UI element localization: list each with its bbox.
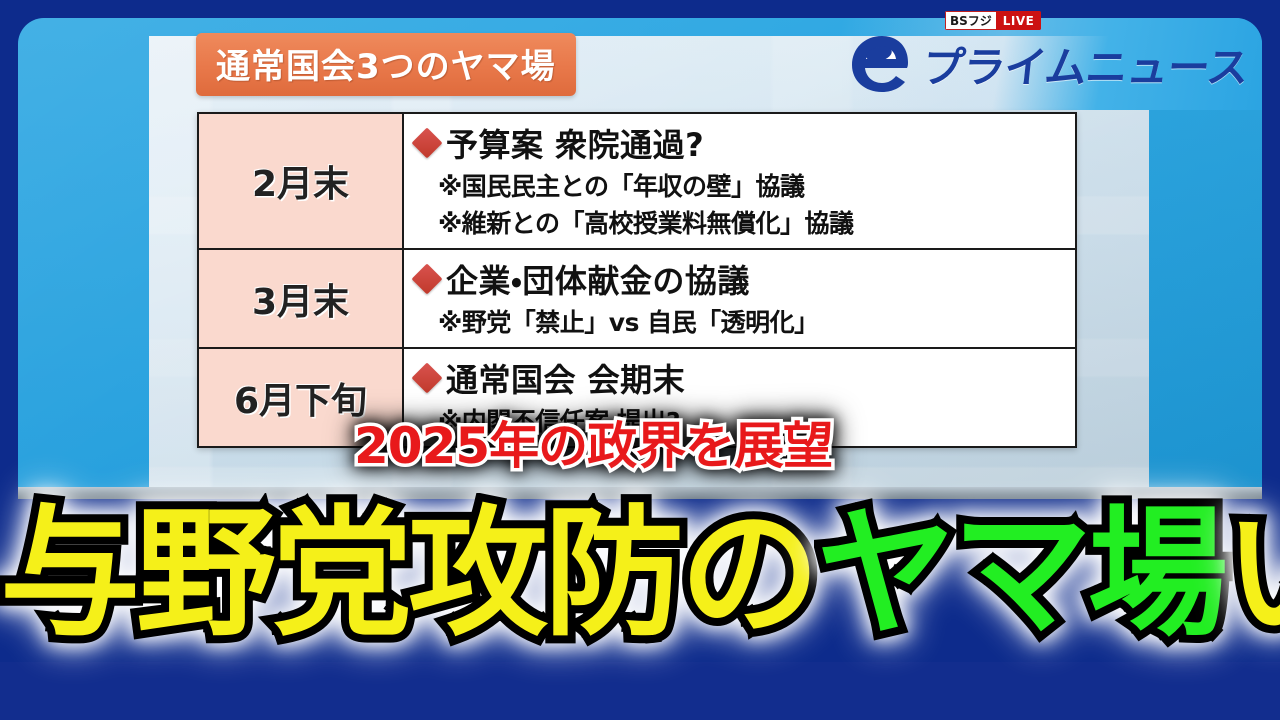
row-headline: 通常国会 会期末 bbox=[416, 355, 1065, 401]
live-badge-label: LIVE bbox=[996, 11, 1042, 30]
schedule-table: 2月末 予算案 衆院通過? ※国民民主との「年収の壁」協議 ※維新との「高校授業… bbox=[197, 112, 1077, 448]
row-note: ※維新との「高校授業料無償化」協議 bbox=[416, 204, 1065, 240]
bottom-bar bbox=[0, 662, 1280, 720]
row-headline-label: 予算案 衆院通過? bbox=[446, 120, 704, 166]
row-note: ※国民民主との「年収の壁」協議 bbox=[416, 167, 1065, 203]
main-title-part-2: ヤマ場 bbox=[816, 493, 1224, 656]
table-row: 2月末 予算案 衆院通過? ※国民民主との「年収の壁」協議 ※維新との「高校授業… bbox=[198, 113, 1076, 249]
main-title-part-3: いつ？ bbox=[1224, 493, 1280, 656]
table-cell-content: 企業・団体献金の協議 ※野党「禁止」vs 自民「透明化」 bbox=[403, 249, 1076, 348]
table-row: 3月末 企業・団体献金の協議 ※野党「禁止」vs 自民「透明化」 bbox=[198, 249, 1076, 348]
row-date-label: 3月末 bbox=[252, 282, 349, 323]
live-badge: BSフジ LIVE bbox=[945, 11, 1041, 30]
red-overlay-strap: 2025年の政界を展望 bbox=[340, 404, 846, 480]
table-cell-content: 予算案 衆院通過? ※国民民主との「年収の壁」協議 ※維新との「高校授業料無償化… bbox=[403, 113, 1076, 249]
section-banner-label: 通常国会3つのヤマ場 bbox=[216, 47, 556, 87]
main-title-part-1: 与野党攻防の bbox=[0, 493, 816, 656]
network-badge-label: BSフジ bbox=[945, 11, 996, 30]
red-diamond-icon bbox=[411, 362, 442, 393]
row-headline-label: 企業・団体献金の協議 bbox=[446, 256, 750, 302]
program-logo-text: プライムニュース bbox=[920, 34, 1251, 95]
row-headline-label: 通常国会 会期末 bbox=[446, 355, 685, 401]
main-title: 与野党攻防のヤマ場いつ？ bbox=[0, 505, 1280, 645]
program-logo: BSフジ LIVE プライムニュース bbox=[842, 18, 1262, 110]
row-date-label: 2月末 bbox=[252, 164, 349, 205]
row-headline: 企業・団体献金の協議 bbox=[416, 256, 1065, 302]
program-logo-inner: BSフジ LIVE プライムニュース bbox=[849, 33, 1248, 95]
broadcast-screen: BSフジ LIVE プライムニュース 通常国会3つのヤマ場 2月末 bbox=[0, 0, 1280, 720]
row-headline: 予算案 衆院通過? bbox=[416, 120, 1065, 166]
table-cell-date: 2月末 bbox=[198, 113, 403, 249]
red-overlay-label: 2025年の政界を展望 bbox=[354, 417, 832, 475]
row-note: ※野党「禁止」vs 自民「透明化」 bbox=[416, 303, 1065, 339]
red-diamond-icon bbox=[411, 263, 442, 294]
red-diamond-icon bbox=[411, 127, 442, 158]
section-banner: 通常国会3つのヤマ場 bbox=[196, 33, 576, 96]
e-swirl-icon bbox=[849, 33, 915, 95]
table-cell-date: 3月末 bbox=[198, 249, 403, 348]
